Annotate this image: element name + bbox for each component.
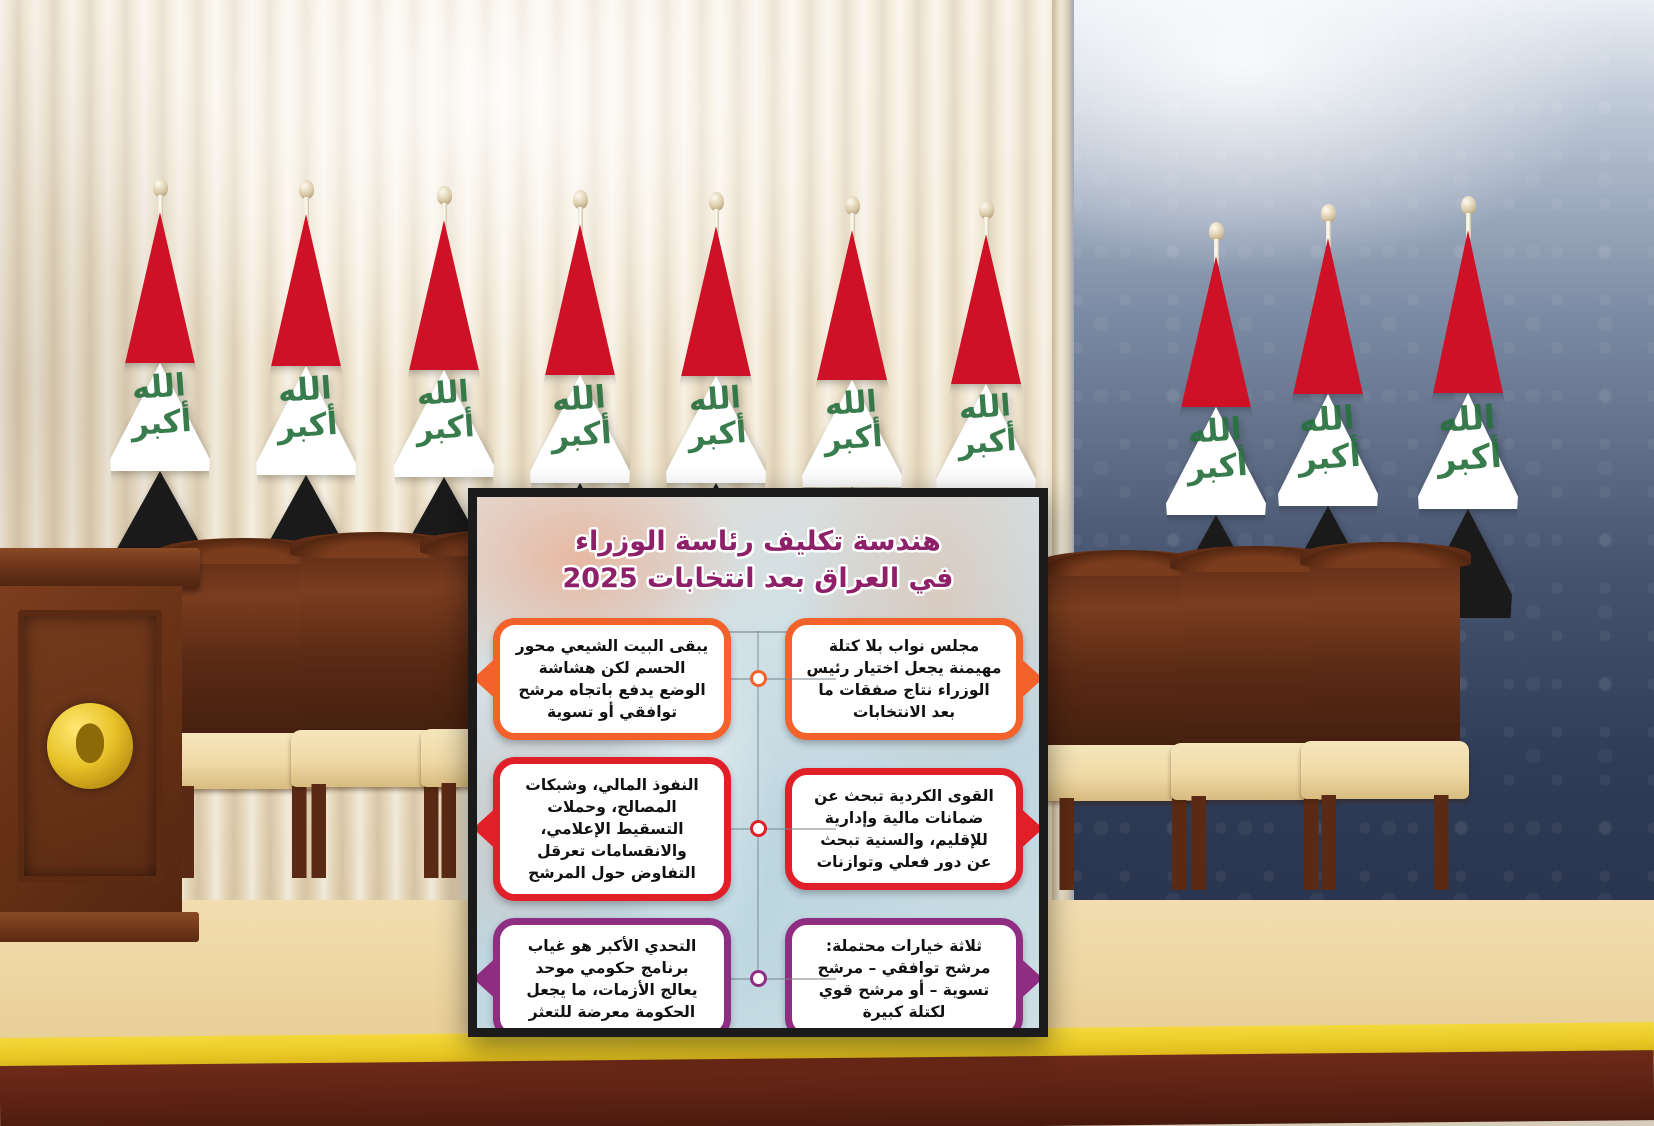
connector-right-2 xyxy=(758,828,836,830)
podium-top xyxy=(0,548,200,588)
infographic-rows: مجلس نواب بلا كتلة مهيمنة يجعل اختيار رئ… xyxy=(477,598,1039,1038)
chair-slats xyxy=(309,558,441,735)
flag-band-red xyxy=(796,230,908,380)
speaker-podium xyxy=(0,548,195,968)
flag-band-red xyxy=(388,220,500,370)
info-row-2: القوى الكردية تبحث عن ضمانات مالية وإدار… xyxy=(493,757,1023,901)
flag-band-red xyxy=(660,226,772,376)
node-3 xyxy=(750,970,767,987)
flag-band-red xyxy=(1272,238,1384,394)
chair-slats xyxy=(1057,576,1189,749)
chair-legs xyxy=(1183,796,1327,890)
flag-band-red xyxy=(930,234,1042,384)
flag-takbir-script: الله أكبر xyxy=(794,382,911,460)
iraqi-flag: الله أكبر xyxy=(250,180,362,582)
ornate-chair xyxy=(1048,560,1198,890)
ornate-chair xyxy=(300,542,450,878)
flag-takbir-script: الله أكبر xyxy=(522,377,639,457)
chair-slats xyxy=(177,564,309,737)
info-bubble-3-left: التحدي الأكبر هو غياب برنامج حكومي موحد … xyxy=(493,918,731,1038)
flag-band-red xyxy=(524,224,636,375)
info-bubble-1-left: يبقى البيت الشيعي محور الحسم لكن هشاشة ا… xyxy=(493,618,731,740)
flag-band-red xyxy=(1412,230,1524,393)
flag-cloth: الله أكبر xyxy=(104,212,216,572)
infographic-title: هندسة تكليف رئاسة الوزراء في العراق بعد … xyxy=(477,497,1039,598)
info-row-3: ثلاثة خيارات محتملة: مرشح توافقي – مرشح … xyxy=(493,918,1023,1038)
node-1 xyxy=(750,670,767,687)
podium-base xyxy=(0,912,199,942)
flag-cloth: الله أكبر xyxy=(250,214,362,576)
connector-right-1 xyxy=(758,678,836,680)
flag-band-red xyxy=(104,212,216,363)
info-bubble-1-left-text: يبقى البيت الشيعي محور الحسم لكن هشاشة ا… xyxy=(514,635,710,723)
flag-takbir-script: الله أكبر xyxy=(1409,395,1526,481)
ornate-chair xyxy=(1180,556,1330,890)
flag-band-red xyxy=(1160,256,1272,407)
flag-takbir-script: الله أكبر xyxy=(386,372,503,450)
podium-body xyxy=(0,586,182,916)
flag-takbir-script: الله أكبر xyxy=(658,378,775,456)
chair-legs xyxy=(303,784,447,878)
infographic-card: هندسة تكليف رئاسة الوزراء في العراق بعد … xyxy=(468,488,1048,1037)
title-line-1: هندسة تكليف رئاسة الوزراء xyxy=(507,523,1009,560)
info-row-1: مجلس نواب بلا كتلة مهيمنة يجعل اختيار رئ… xyxy=(493,618,1023,740)
iraq-emblem-icon xyxy=(47,703,133,789)
chair-slats xyxy=(1189,572,1321,748)
flag-takbir-script: الله أكبر xyxy=(1269,396,1386,480)
chair-legs xyxy=(1051,798,1195,890)
flag-band-red xyxy=(250,214,362,366)
podium-panel xyxy=(18,610,162,882)
flag-takbir-script: الله أكبر xyxy=(1158,409,1275,489)
chair-slats xyxy=(1319,568,1451,746)
flag-takbir-script: الله أكبر xyxy=(248,368,365,448)
node-2 xyxy=(750,820,767,837)
flag-takbir-script: الله أكبر xyxy=(102,365,219,445)
ornate-chair xyxy=(1310,552,1460,890)
title-line-2: في العراق بعد انتخابات 2025 xyxy=(507,560,1009,597)
info-bubble-2-left: النفوذ المالي، وشبكات المصالح، وحملات ال… xyxy=(493,757,731,901)
info-bubble-3-left-text: التحدي الأكبر هو غياب برنامج حكومي موحد … xyxy=(514,935,710,1023)
flag-takbir-script: الله أكبر xyxy=(928,386,1045,464)
iraqi-flag: الله أكبر xyxy=(104,178,216,578)
chair-seat xyxy=(1301,741,1469,798)
chair-crest xyxy=(1300,542,1471,568)
connector-right-3 xyxy=(758,978,836,980)
chair-legs xyxy=(1313,795,1457,890)
info-bubble-2-left-text: النفوذ المالي، وشبكات المصالح، وحملات ال… xyxy=(514,774,710,884)
